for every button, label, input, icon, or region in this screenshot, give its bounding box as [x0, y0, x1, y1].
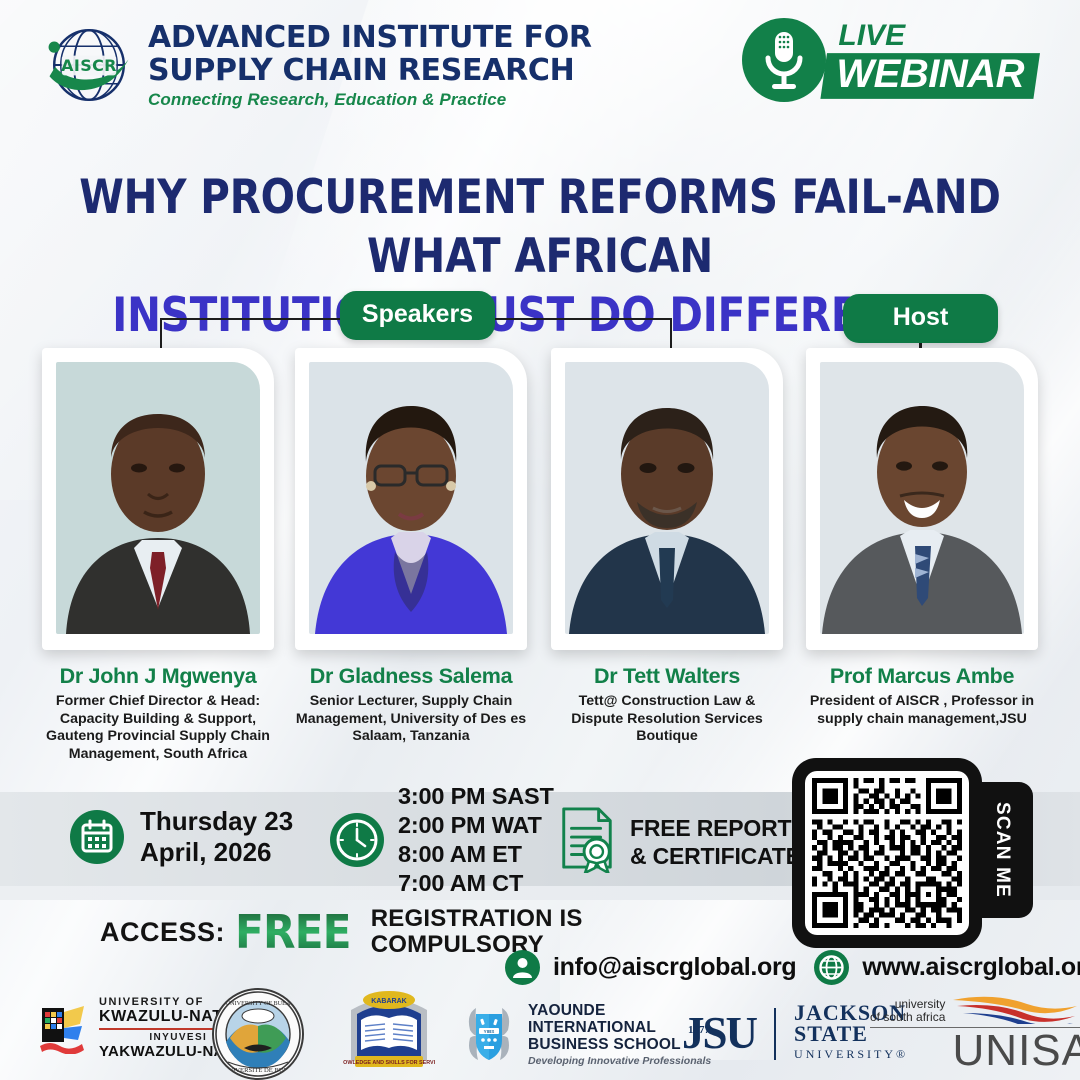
poster-header: AISCR ADVANCED INSTITUTE FOR SUPPLY CHAI… [0, 0, 1080, 130]
speaker-name-3: Dr Tett Walters [551, 664, 783, 689]
speaker-photo-2 [309, 362, 513, 634]
qr-code-icon[interactable] [792, 758, 982, 948]
contact-website[interactable]: www.aiscrglobal.org [814, 950, 1080, 985]
org-tagline: Connecting Research, Education & Practic… [148, 91, 592, 108]
yibs-shield-icon: YIBS [460, 1004, 518, 1066]
title-line-1: WHY PROCUREMENT REFORMS FAIL-AND WHAT AF… [76, 168, 1005, 286]
live-webinar-badge: LIVE WEBINAR [742, 18, 1040, 102]
microphone-icon [742, 18, 826, 102]
live-label: LIVE [820, 21, 1040, 51]
aiscr-logo: AISCR ADVANCED INSTITUTE FOR SUPPLY CHAI… [42, 18, 592, 112]
photo-frame [551, 348, 783, 650]
event-date-text: Thursday 23 April, 2026 [140, 806, 293, 868]
unisa-small-text: university of south africa [870, 998, 945, 1024]
partner-logo-kabarak: KABARAK KNOWLEDGE AND SKILLS FOR SERVICE [343, 990, 435, 1074]
webinar-label: WEBINAR [820, 53, 1040, 99]
event-time-3: 8:00 AM ET [398, 840, 554, 869]
kabarak-emblem-icon: KABARAK KNOWLEDGE AND SKILLS FOR SERVICE [343, 990, 435, 1074]
svg-text:UNIVERSITE DE BUEA: UNIVERSITE DE BUEA [224, 1067, 293, 1074]
access-label: ACCESS: [100, 917, 225, 948]
unisa-swoosh-icon [951, 994, 1079, 1024]
free-report-block: FREE REPORT & CERTIFICATE [556, 805, 801, 878]
live-webinar-text: LIVE WEBINAR [820, 21, 1040, 99]
aiscr-logo-text: ADVANCED INSTITUTE FOR SUPPLY CHAIN RESE… [148, 23, 592, 108]
event-date-line1: Thursday 23 [140, 806, 293, 837]
svg-text:UNIVERSITY OF BUEA: UNIVERSITY OF BUEA [226, 1000, 291, 1007]
webinar-poster: AISCR ADVANCED INSTITUTE FOR SUPPLY CHAI… [0, 0, 1080, 1080]
host-badge: Host [843, 294, 998, 343]
event-time-2: 2:00 PM WAT [398, 811, 554, 840]
speaker-photo-1 [56, 362, 260, 634]
event-date-line2: April, 2026 [140, 837, 293, 868]
speaker-role-2: Senior Lecturer, Supply Chain Management… [295, 693, 527, 746]
photo-frame [806, 348, 1038, 650]
photo-frame [42, 348, 274, 650]
host-role: President of AISCR , Professor in supply… [806, 693, 1038, 728]
jsu-divider [774, 1008, 776, 1060]
jsu-founding-year: 1877 [688, 1008, 710, 1053]
people-row: Dr John J Mgwenya Former Chief Director … [0, 348, 1080, 768]
partner-logos-row: UNIVERSITY OF KWAZULU-NATAL INYUVESI YAK… [0, 988, 1080, 1080]
speaker-card-3: Dr Tett Walters Tett@ Construction Law &… [551, 348, 783, 746]
speaker-card-1: Dr John J Mgwenya Former Chief Director … [42, 348, 274, 763]
ukzn-emblem-icon [38, 1002, 90, 1054]
qr-code-surface [805, 771, 969, 935]
org-name-line1: ADVANCED INSTITUTE FOR [148, 23, 592, 53]
calendar-icon [70, 810, 124, 864]
host-photo [820, 362, 1024, 634]
host-name: Prof Marcus Ambe [806, 664, 1038, 689]
speaker-name-1: Dr John J Mgwenya [42, 664, 274, 689]
buea-seal-icon: UNIVERSITY OF BUEA UNIVERSITE DE BUEA [212, 988, 304, 1080]
free-report-text: FREE REPORT & CERTIFICATE [630, 814, 801, 870]
scan-me-label: SCAN ME [991, 802, 1013, 898]
free-report-line2: & CERTIFICATE [630, 842, 801, 870]
globe-icon [814, 950, 849, 985]
partner-logo-buea: UNIVERSITY OF BUEA UNIVERSITE DE BUEA [212, 988, 304, 1080]
speaker-photo-3 [565, 362, 769, 634]
access-rest-line1: REGISTRATION IS [371, 906, 583, 932]
unisa-wordmark: UNISA [870, 1028, 1080, 1074]
speaker-role-3: Tett@ Construction Law & Dispute Resolut… [551, 693, 783, 746]
partner-logo-unisa: university of south africa UNISA [870, 994, 1080, 1074]
event-times: 3:00 PM SAST 2:00 PM WAT 8:00 AM ET 7:00… [398, 782, 554, 898]
access-free-word: FREE [235, 912, 351, 952]
qr-code-block[interactable]: SCAN ME [792, 758, 982, 948]
svg-text:KNOWLEDGE AND SKILLS FOR SERVI: KNOWLEDGE AND SKILLS FOR SERVICE [343, 1060, 435, 1066]
photo-frame [295, 348, 527, 650]
jsu-monogram: JSU 1877 [682, 1011, 756, 1056]
unisa-small-line2: of south africa [870, 1011, 945, 1024]
partner-logo-yibs: YIBS YAOUNDE INTERNATIONAL BUSINESS SCHO… [460, 1002, 711, 1067]
unisa-top-row: university of south africa [870, 994, 1080, 1024]
event-time-block: 3:00 PM SAST 2:00 PM WAT 8:00 AM ET 7:00… [330, 782, 554, 898]
svg-text:YIBS: YIBS [484, 1029, 495, 1034]
contact-row: info@aiscrglobal.org www.aiscrglobal.org [505, 950, 1080, 985]
certificate-document-icon [556, 805, 618, 878]
speaker-name-2: Dr Gladness Salema [295, 664, 527, 689]
globe-icon: AISCR [42, 18, 136, 112]
contact-email-text: info@aiscrglobal.org [553, 953, 796, 982]
contact-email[interactable]: info@aiscrglobal.org [505, 950, 796, 985]
speaker-card-2: Dr Gladness Salema Senior Lecturer, Supp… [295, 348, 527, 746]
free-report-line1: FREE REPORT [630, 814, 801, 842]
event-time-1: 3:00 PM SAST [398, 782, 554, 811]
event-date-block: Thursday 23 April, 2026 [70, 806, 293, 868]
person-icon [505, 950, 540, 985]
svg-text:KABARAK: KABARAK [371, 998, 406, 1005]
clock-icon [330, 813, 384, 867]
unisa-block: university of south africa UNISA [870, 994, 1080, 1074]
svg-text:AISCR: AISCR [61, 56, 117, 75]
event-time-4: 7:00 AM CT [398, 869, 554, 898]
speakers-badge: Speakers [340, 291, 495, 340]
host-card: Prof Marcus Ambe President of AISCR , Pr… [806, 348, 1038, 728]
contact-website-text: www.aiscrglobal.org [862, 953, 1080, 982]
speaker-role-1: Former Chief Director & Head: Capacity B… [42, 693, 274, 763]
org-name-line2: SUPPLY CHAIN RESEARCH [148, 56, 592, 86]
